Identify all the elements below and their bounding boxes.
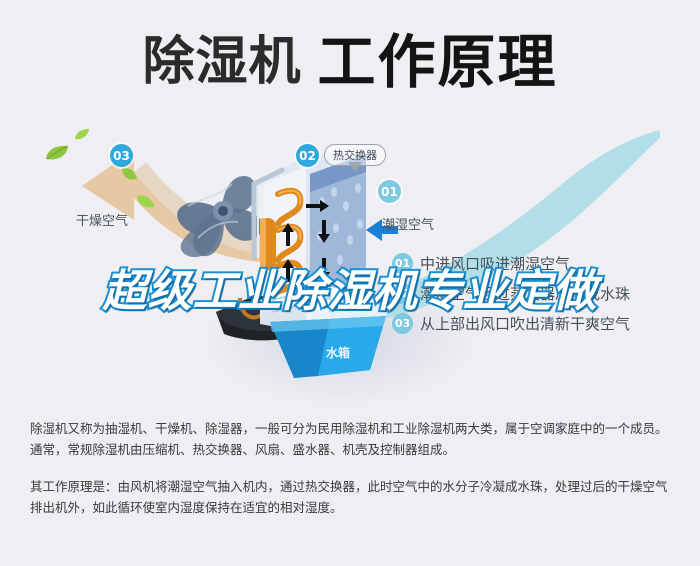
badge-03-dry-air: 03 bbox=[110, 144, 133, 167]
leaf-icon bbox=[74, 128, 90, 141]
paragraph-2: 其工作原理是：由风机将潮湿空气抽入机内，通过热交换器，此时空气中的水分子冷凝成水… bbox=[30, 476, 675, 518]
callout-stem bbox=[348, 162, 362, 173]
legend-badge-01: 01 bbox=[392, 253, 413, 274]
leaf-icon bbox=[44, 144, 70, 162]
paragraph-1-line-2: 通常，常规除湿机由压缩机、热交换器、风扇、盛水器、机壳及控制器组成。 bbox=[30, 439, 675, 460]
page-title: 除湿机 工作原理 bbox=[0, 22, 700, 102]
legend-item: 01 中进风口吸进潮湿空气 bbox=[392, 248, 692, 278]
paragraph-1: 除湿机又称为抽湿机、干燥机、除湿器，一般可分为民用除湿机和工业除湿机两大类，属于… bbox=[30, 418, 675, 460]
badge-02-heat-exchanger: 02 bbox=[296, 144, 319, 167]
label-moist-air: 潮湿空气 bbox=[382, 214, 434, 233]
legend-badge-02: 02 bbox=[392, 283, 413, 304]
water-tank-illustration bbox=[210, 278, 400, 388]
title-part-2: 工作原理 bbox=[318, 33, 558, 91]
legend-list: 01 中进风口吸进潮湿空气 02 潮湿空气经过蒸发器冷凝成水珠 03 从上部出风… bbox=[392, 248, 692, 338]
leaf-icon bbox=[136, 194, 156, 210]
title-part-1: 除湿机 bbox=[142, 36, 301, 88]
paragraph-1-line-1: 除湿机又称为抽湿机、干燥机、除湿器，一般可分为民用除湿机和工业除湿机两大类，属于… bbox=[30, 418, 675, 439]
legend-text-02: 潮湿空气经过蒸发器冷凝成水珠 bbox=[420, 283, 630, 304]
label-water-tank: 水箱 bbox=[326, 344, 350, 361]
legend-badge-03: 03 bbox=[392, 313, 413, 334]
legend-item: 03 从上部出风口吹出清新干爽空气 bbox=[392, 308, 692, 338]
description-block: 除湿机又称为抽湿机、干燥机、除湿器，一般可分为民用除湿机和工业除湿机两大类，属于… bbox=[30, 418, 675, 518]
legend-item: 02 潮湿空气经过蒸发器冷凝成水珠 bbox=[392, 278, 692, 308]
badge-01-moist-air: 01 bbox=[378, 180, 401, 203]
paragraph-2-line-1: 其工作原理是：由风机将潮湿空气抽入机内，通过热交换器，此时空气中的水分子冷凝成水… bbox=[30, 476, 675, 497]
leaf-icon bbox=[120, 166, 138, 182]
legend-text-03: 从上部出风口吹出清新干爽空气 bbox=[420, 313, 630, 334]
label-dry-air: 干燥空气 bbox=[76, 210, 128, 229]
paragraph-2-line-2: 排出机外，如此循环使室内湿度保持在适宜的相对湿度。 bbox=[30, 497, 675, 518]
legend-text-01: 中进风口吸进潮湿空气 bbox=[420, 253, 570, 274]
